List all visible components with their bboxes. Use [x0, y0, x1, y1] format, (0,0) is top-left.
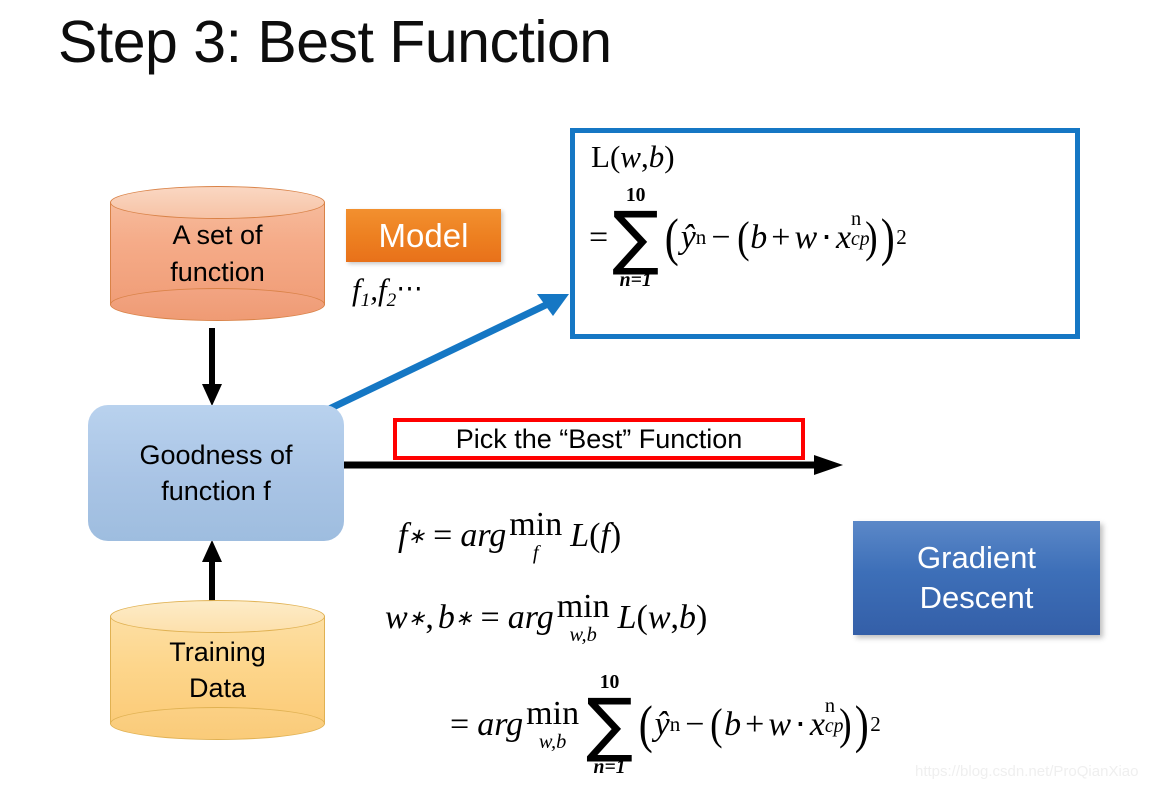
- f-star-argument: f: [600, 517, 609, 555]
- formula-wb-star: w∗, b∗ = arg min w,b L(w,b): [385, 590, 707, 645]
- summation-lower-limit: n=1: [620, 270, 652, 291]
- loss-outer-close-paren: ): [881, 208, 895, 268]
- formula-expanded-objective: = arg min w,b 10 ∑ n=1 ( ŷn − ( b + w ⋅ …: [450, 672, 881, 778]
- expanded-min-operator: min w,b: [526, 697, 579, 752]
- wb-star-min-label: min: [557, 590, 610, 624]
- expanded-inner-open-paren: (: [711, 699, 724, 750]
- sigma-icon: ∑: [612, 206, 659, 270]
- f-star-equals: =: [433, 517, 452, 555]
- expanded-summation-lower-limit: n=1: [594, 757, 626, 778]
- gradient-descent-line-1: Gradient: [917, 538, 1036, 578]
- expanded-w: w: [768, 706, 791, 744]
- loss-inner-open-paren: (: [737, 212, 750, 263]
- expanded-x-cp: xncp: [810, 706, 825, 744]
- loss-x: x: [836, 219, 851, 256]
- wb-star-var-w: w: [648, 599, 671, 637]
- loss-inner-close-paren: ): [865, 212, 878, 263]
- wb-star-equals: =: [481, 599, 500, 637]
- expanded-b: b: [724, 706, 741, 744]
- loss-power: 2: [896, 225, 907, 250]
- expanded-inner-close-paren: ): [839, 699, 852, 750]
- expanded-arg: arg: [477, 706, 523, 744]
- goodness-line-2: function f: [161, 473, 271, 509]
- loss-L: L: [591, 139, 610, 174]
- loss-minus: −: [711, 219, 730, 257]
- wb-star-L: L: [618, 599, 637, 637]
- loss-b: b: [750, 219, 767, 257]
- wb-star-w: w: [385, 599, 408, 637]
- gradient-descent-line-2: Descent: [920, 578, 1034, 618]
- node-set-of-function-label: A set of function: [110, 186, 325, 321]
- loss-lhs-comma: ,: [641, 139, 649, 174]
- expanded-plus: +: [745, 706, 764, 744]
- wb-star-close-paren: ): [696, 599, 707, 637]
- arrow-goodness-to-loss: [315, 288, 575, 416]
- formula-f-star: f∗ = arg min f L(f): [398, 508, 621, 563]
- summation-operator: 10 ∑ n=1: [612, 185, 659, 291]
- loss-function-lhs: L(w,b): [591, 139, 675, 175]
- expanded-x: x: [810, 706, 825, 743]
- expanded-dot-operator: ⋅: [795, 705, 806, 745]
- wb-star-b: b: [438, 599, 455, 637]
- expanded-min-subscript: w,b: [539, 732, 566, 752]
- label-pick-best-function: Pick the “Best” Function: [393, 418, 805, 460]
- loss-dot-operator: ⋅: [821, 218, 832, 258]
- set-of-function-line-1: A set of: [172, 217, 262, 253]
- goodness-line-1: Goodness of: [139, 437, 292, 473]
- loss-y-hat: ŷ: [681, 219, 696, 257]
- wb-star-w-asterisk: ∗: [408, 605, 426, 631]
- loss-equals: =: [589, 219, 608, 257]
- loss-plus: +: [771, 219, 790, 257]
- expanded-outer-close-paren: ): [854, 695, 868, 755]
- arrow-functions-to-goodness: [200, 328, 224, 408]
- f-star-lhs: f: [398, 517, 407, 555]
- expanded-outer-open-paren: (: [639, 695, 653, 755]
- f-star-arg: arg: [460, 517, 506, 555]
- loss-function-box: L(w,b) = 10 ∑ n=1 ( ŷn − ( b + w ⋅ xncp …: [570, 128, 1080, 339]
- loss-lhs-open-paren: (: [610, 139, 620, 174]
- badge-gradient-descent: Gradient Descent: [853, 521, 1100, 635]
- f-star-min-operator: min f: [509, 508, 562, 563]
- loss-y-superscript: n: [696, 225, 707, 250]
- f-star-close-paren: ): [610, 517, 621, 555]
- badge-model: Model: [346, 209, 501, 262]
- loss-lhs-b: b: [649, 139, 665, 174]
- summation-operator: 10 ∑ n=1: [586, 672, 633, 778]
- f-star-min-label: min: [509, 508, 562, 542]
- wb-star-arg: arg: [508, 599, 554, 637]
- wb-star-comma: ,: [425, 599, 434, 637]
- loss-lhs-w: w: [620, 139, 641, 174]
- node-set-of-function: A set of function: [110, 186, 325, 321]
- wb-star-min-subscript: w,b: [569, 625, 596, 645]
- wb-star-inner-comma: ,: [671, 599, 680, 637]
- sigma-icon: ∑: [586, 693, 633, 757]
- loss-w: w: [794, 219, 817, 257]
- wb-star-min-operator: min w,b: [557, 590, 610, 645]
- slide-canvas: Step 3: Best Function A set of function …: [0, 0, 1160, 799]
- expanded-y-hat: ŷ: [655, 706, 670, 744]
- wb-star-open-paren: (: [637, 599, 648, 637]
- loss-lhs-close-paren: ): [664, 139, 674, 174]
- training-data-line-2: Data: [189, 670, 246, 706]
- f-star-min-subscript: f: [533, 543, 539, 563]
- expanded-power: 2: [870, 712, 881, 737]
- expanded-minus: −: [685, 706, 704, 744]
- loss-x-cp: xncp: [836, 219, 851, 257]
- watermark: https://blog.csdn.net/ProQianXiao: [915, 763, 1138, 780]
- set-of-function-line-2: function: [170, 254, 265, 290]
- loss-outer-open-paren: (: [665, 208, 679, 268]
- expanded-equals: =: [450, 706, 469, 744]
- loss-function-rhs: = 10 ∑ n=1 ( ŷn − ( b + w ⋅ xncp ) )2: [589, 185, 907, 291]
- wb-star-b-asterisk: ∗: [455, 605, 473, 631]
- page-title: Step 3: Best Function: [58, 8, 612, 76]
- node-training-data-label: Training Data: [110, 600, 325, 740]
- training-data-line-1: Training: [169, 634, 266, 670]
- node-goodness-of-function: Goodness of function f: [88, 405, 344, 541]
- expanded-y-superscript: n: [670, 712, 681, 737]
- f-star-L: L: [570, 517, 589, 555]
- wb-star-var-b: b: [679, 599, 696, 637]
- node-training-data: Training Data: [110, 600, 325, 740]
- f-star-asterisk: ∗: [407, 523, 425, 549]
- f-star-open-paren: (: [589, 517, 600, 555]
- expanded-min-label: min: [526, 697, 579, 731]
